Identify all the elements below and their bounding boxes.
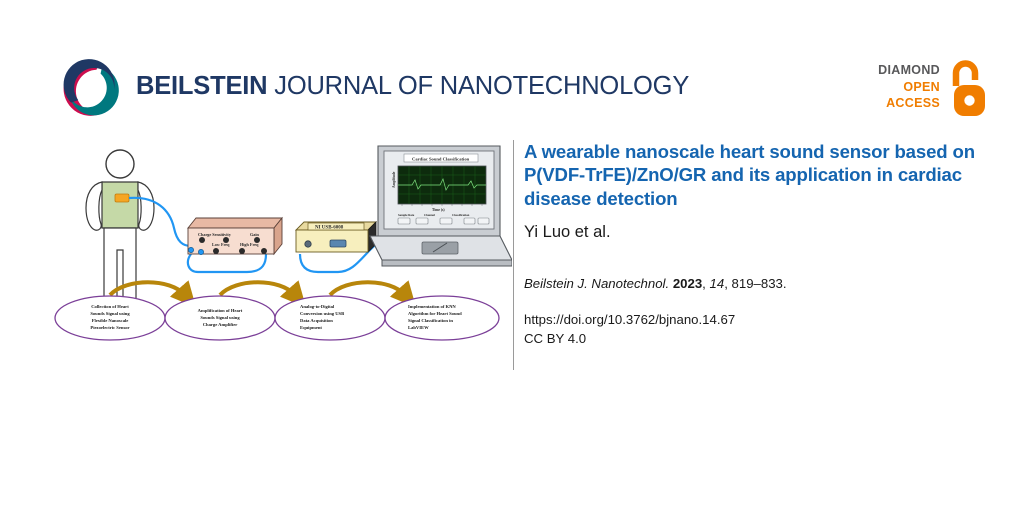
oa-line-diamond: DIAMOND xyxy=(878,62,940,79)
article-license: CC BY 4.0 xyxy=(524,329,994,348)
svg-text:Sample Rate: Sample Rate xyxy=(398,213,415,217)
step-2-line-1: Amplification of Heart xyxy=(198,308,243,313)
step-3-line-3: Data Acquisition xyxy=(300,318,333,323)
svg-text:Cardiac Sound Classification: Cardiac Sound Classification xyxy=(412,156,470,161)
step-4-line-2: Algorithm for Heart Sound xyxy=(408,311,462,316)
flow-arrows xyxy=(110,282,405,295)
step-3: Analog-to-Digital Conversion using USB D… xyxy=(275,296,385,340)
wordmark-bold: BEILSTEIN xyxy=(136,72,267,100)
article-citation: Beilstein J. Nanotechnol. 2023, 14, 819–… xyxy=(524,275,994,293)
step-1: Collection of Heart Sounds Signal using … xyxy=(55,296,165,340)
column-divider xyxy=(513,140,514,370)
step-2-line-2: Sounds Signal using xyxy=(200,315,240,320)
graphical-abstract: Charge Sensitivity Gain Low Freq High Fr… xyxy=(52,132,512,342)
step-4: Implementation of KNN Algorithm for Hear… xyxy=(385,296,499,340)
laptop-device: Cardiac Sound Classification Amplitude T… xyxy=(370,146,512,266)
step-2-line-3: Charge Amplifier xyxy=(203,322,238,327)
charge-amplifier-device: Charge Sensitivity Gain Low Freq High Fr… xyxy=(188,218,282,255)
page-header: BEILSTEIN JOURNAL OF NANOTECHNOLOGY DIAM… xyxy=(0,0,1024,132)
open-access-badge: DIAMOND OPEN ACCESS xyxy=(862,58,992,124)
article-authors: Yi Luo et al. xyxy=(524,223,994,243)
svg-text:Time (s): Time (s) xyxy=(432,208,445,212)
step-1-line-1: Collection of Heart xyxy=(91,304,129,309)
svg-text:Charge Sensitivity: Charge Sensitivity xyxy=(198,232,232,237)
citation-volume: 14 xyxy=(710,276,725,291)
svg-text:NI USB-6008: NI USB-6008 xyxy=(315,226,344,231)
oa-line-access: ACCESS xyxy=(878,95,940,112)
step-4-line-4: LabVIEW xyxy=(408,325,429,330)
svg-text:Low Freq: Low Freq xyxy=(212,242,230,247)
workflow-steps: Collection of Heart Sounds Signal using … xyxy=(55,296,499,340)
step-4-line-1: Implementation of KNN xyxy=(408,304,456,309)
step-1-line-4: Piezoelectric Sensor xyxy=(90,325,129,330)
step-3-line-2: Conversion using USB xyxy=(300,311,344,316)
journal-wordmark: BEILSTEIN JOURNAL OF NANOTECHNOLOGY xyxy=(136,72,689,101)
open-access-text: DIAMOND OPEN ACCESS xyxy=(878,62,940,112)
oa-line-open: OPEN xyxy=(878,79,940,96)
article-title: A wearable nanoscale heart sound sensor … xyxy=(524,140,976,210)
ni-usb-daq-device: NI USB-6008 xyxy=(296,222,376,252)
svg-text:Amplitude: Amplitude xyxy=(392,171,396,188)
citation-year: 2023 xyxy=(673,276,702,291)
step-1-line-3: Flexible Nanoscale xyxy=(92,318,129,323)
article-info-panel: A wearable nanoscale heart sound sensor … xyxy=(524,140,994,348)
citation-pages: 819–833. xyxy=(732,276,787,291)
wordmark-light: JOURNAL OF NANOTECHNOLOGY xyxy=(267,72,689,100)
svg-text:Channel: Channel xyxy=(424,213,435,217)
citation-journal: Beilstein J. Nanotechnol. xyxy=(524,276,669,291)
svg-text:Gain: Gain xyxy=(250,232,260,237)
step-2: Amplification of Heart Sounds Signal usi… xyxy=(165,296,275,340)
article-doi-link[interactable]: https://doi.org/10.3762/bjnano.14.67 xyxy=(524,310,994,329)
step-3-line-1: Analog-to-Digital xyxy=(300,304,335,309)
open-padlock-icon xyxy=(946,60,992,120)
chest-sensor-icon xyxy=(115,194,129,202)
step-1-line-2: Sounds Signal using xyxy=(90,311,130,316)
step-4-line-3: Signal Classification in xyxy=(408,318,453,323)
step-3-line-4: Equipment xyxy=(300,325,322,330)
svg-text:Classification: Classification xyxy=(452,213,470,217)
beilstein-circles-logo xyxy=(57,56,125,124)
